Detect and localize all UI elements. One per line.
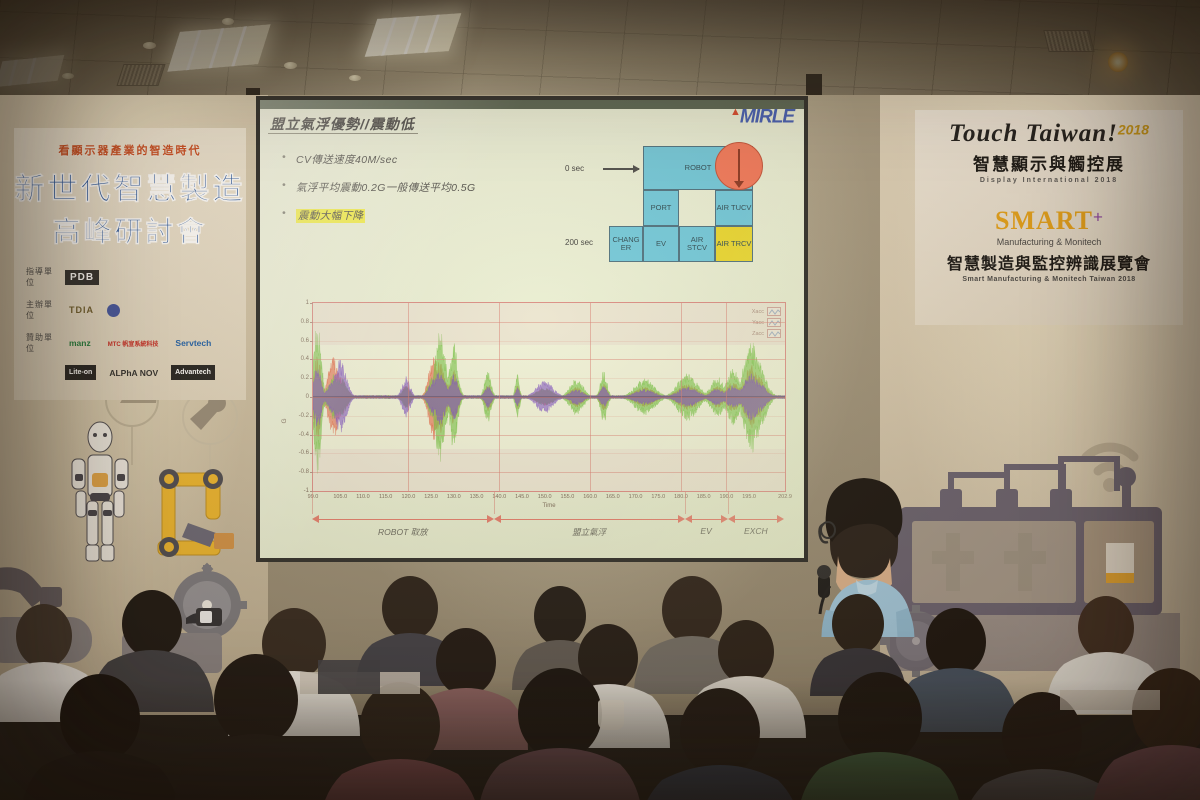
banner-left-title-line1: 新世代智慧製造 — [14, 164, 246, 208]
diagram-block-changer: CHANG ER — [609, 226, 643, 262]
chart-y-tick: -0.2 — [299, 413, 309, 419]
smart-subtitle: Manufacturing & Monitech — [915, 237, 1183, 247]
sponsor-row-label: 指導單位 — [26, 266, 56, 288]
chart-phase-segment: ROBOT 取放 — [312, 514, 494, 525]
chart-band — [313, 449, 785, 491]
chart-x-tick: 135.0 — [470, 494, 484, 500]
smart-title-row: SMART+ — [915, 206, 1183, 236]
sponsor-logo-liteon: Lite-on — [65, 365, 96, 380]
smart-name: SMART — [995, 206, 1093, 235]
chart-y-tick: -0.8 — [299, 469, 309, 475]
chart-gridline — [408, 303, 409, 491]
chart-gridline — [681, 303, 682, 491]
diagram-block-port: PORT — [643, 190, 679, 226]
sponsor-logo-tdia: TDIA — [65, 303, 98, 318]
foreground-shadow — [0, 680, 1200, 800]
sponsor-logo-servtech: Servtech — [171, 336, 215, 351]
slide-bullet: 氣浮平均震動0.2G一般傳送平均0.5G — [282, 180, 562, 195]
touch-taiwan-name: Touch Taiwan! — [949, 120, 1118, 147]
chart-x-tick: 99.0 — [308, 494, 319, 500]
diagram-start-arrow-icon — [603, 168, 639, 170]
mirle-logo: ▲MIRLE — [730, 106, 794, 128]
chart-x-tick: 160.0 — [583, 494, 597, 500]
sponsor-row: 贊助單位 manz MTC 帆宣系統科技 Servtech — [26, 332, 234, 354]
chart-phase-label: EV — [685, 526, 728, 536]
chart-x-tick: 190.0 — [720, 494, 734, 500]
chart-gridline — [313, 397, 785, 398]
chart-x-tick: 110.0 — [356, 494, 369, 500]
slide-bullet-text: 氣浮平均震動0.2G一般傳送平均0.5G — [296, 182, 476, 194]
screen-top-edge — [260, 100, 804, 109]
chart-x-tick: 202.9 — [778, 494, 792, 500]
slide-bullet: CV傳送速度40M/sec — [282, 152, 562, 167]
chart-y-tick: 0.8 — [301, 319, 309, 325]
diagram-block-air-trcv: AIR TRCV — [715, 226, 753, 262]
diagram-label-start: 0 sec — [565, 164, 584, 173]
banner-left-title-line2: 高峰研討會 — [14, 210, 246, 250]
chart-plot-area: Xacc Yacc Zacc — [312, 302, 786, 492]
slide-bullet-highlighted: 震動大幅下降 — [282, 208, 562, 223]
mirle-logo-text: MIRLE — [740, 106, 794, 127]
touch-taiwan-title-row: Touch Taiwan!2018 — [915, 120, 1183, 148]
smart-chinese: 智慧製造與監控辨識展覽會 — [915, 250, 1183, 274]
chart-gridline — [499, 303, 500, 491]
slide-bullet-list: CV傳送速度40M/sec 氣浮平均震動0.2G一般傳送平均0.5G 震動大幅下… — [282, 152, 562, 236]
chart-y-tick: 0.6 — [301, 338, 309, 344]
diagram-block-label: PORT — [651, 204, 672, 212]
down-arrow-icon — [738, 149, 740, 183]
chart-gridline — [313, 359, 785, 360]
chart-x-tick: 145.0 — [515, 494, 529, 500]
sponsor-row: Lite-on ALPhA NOV Advantech — [26, 365, 234, 380]
chart-phase-annotations: ROBOT 取放盟立氣浮EVEXCH — [312, 514, 786, 540]
diagram-block-label: AIR STCV — [680, 236, 714, 252]
chart-x-tick: 185.0 — [697, 494, 711, 500]
diagram-label-end: 200 sec — [565, 238, 593, 247]
chart-y-axis-label: G — [281, 418, 288, 423]
chart-gridline — [313, 322, 785, 323]
diagram-block-air-stcv: AIR STCV — [679, 226, 715, 262]
chart-x-tick: 165.0 — [606, 494, 620, 500]
process-diagram: 0 sec ROBOT PORT AIR TUCV 200 sec CHANG … — [605, 140, 795, 260]
slide-title: 盟立氣浮優勢//震動低 — [270, 114, 415, 134]
chart-x-tick: 115.0 — [379, 494, 392, 500]
slide-title-underline — [268, 133, 418, 134]
touch-taiwan-english: Display International 2018 — [915, 177, 1183, 184]
smart-english: Smart Manufacturing & Monitech Taiwan 20… — [915, 276, 1183, 283]
sponsor-row-label: 主辦單位 — [26, 299, 56, 321]
chart-x-tick: 175.0 — [651, 494, 665, 500]
sponsor-section: 指導單位 PDB 主辦單位 TDIA 贊助單位 manz MTC 帆宣系統科技 … — [14, 266, 246, 380]
chart-gridline — [313, 453, 785, 454]
sponsor-logo-mtc: MTC 帆宣系統科技 — [104, 336, 163, 351]
chart-phase-segment: EXCH — [728, 514, 784, 525]
banner-left-subtitle: 看顯示器產業的智造時代 — [14, 128, 246, 158]
diagram-block-label: AIR TRCV — [717, 240, 752, 248]
chart-x-tick: 105.0 — [333, 494, 347, 500]
chart-phase-segment: EV — [685, 514, 728, 525]
chart-gridline — [726, 303, 727, 491]
chart-x-tick: 125.0 — [424, 494, 438, 500]
chart-band — [313, 303, 785, 345]
conference-room-scene: 看顯示器產業的智造時代 新世代智慧製造 高峰研討會 指導單位 PDB 主辦單位 … — [0, 0, 1200, 800]
touch-taiwan-logo: Touch Taiwan!2018 智慧顯示與觸控展 Display Inter… — [915, 110, 1183, 184]
sponsor-logo-pdb: PDB — [65, 270, 99, 285]
sponsor-row-label: 贊助單位 — [26, 332, 56, 354]
diagram-block-label: ROBOT — [685, 164, 712, 172]
chart-y-tick: 0.2 — [301, 375, 309, 381]
sponsor-logo-alpha: ALPhA NOV — [105, 365, 162, 380]
smart-plus-icon: + — [1093, 208, 1103, 227]
sponsor-logo-advantech: Advantech — [171, 365, 215, 380]
sponsor-logo-badge-icon — [107, 304, 120, 317]
mirle-accent-icon: ▲ — [730, 106, 740, 118]
diagram-block-label: CHANG ER — [610, 236, 642, 252]
chart-phase-label: EXCH — [728, 526, 784, 536]
chart-phase-segment: 盟立氣浮 — [494, 514, 685, 525]
smart-logo: SMART+ Manufacturing & Monitech 智慧製造與監控辨… — [915, 206, 1183, 283]
diagram-block-ev: EV — [643, 226, 679, 262]
chart-gridline — [313, 378, 785, 379]
chart-x-tick: 195.0 — [742, 494, 756, 500]
chart-y-tick: 0 — [306, 394, 309, 400]
chart-gridline — [313, 341, 785, 342]
banner-left: 看顯示器產業的智造時代 新世代智慧製造 高峰研討會 指導單位 PDB 主辦單位 … — [14, 128, 246, 400]
chart-x-tick: 155.0 — [561, 494, 575, 500]
vibration-chart: G Xacc Yacc — [276, 296, 792, 546]
diagram-block-label: EV — [656, 240, 666, 248]
sponsor-logo-manz: manz — [65, 336, 95, 351]
chart-gridline — [313, 416, 785, 417]
touch-taiwan-year: 2018 — [1118, 122, 1149, 138]
chart-y-tick: 1 — [306, 300, 309, 306]
chart-x-tick: 180.0 — [674, 494, 688, 500]
projection-screen: 盟立氣浮優勢//震動低 ▲MIRLE CV傳送速度40M/sec 氣浮平均震動0… — [260, 100, 804, 558]
chart-x-tick: 170.0 — [629, 494, 643, 500]
chart-phase-label: ROBOT 取放 — [312, 526, 494, 538]
sponsor-row: 指導單位 PDB — [26, 266, 234, 288]
touch-taiwan-chinese: 智慧顯示與觸控展 — [915, 150, 1183, 175]
diagram-block-label: AIR TUCV — [717, 204, 752, 212]
chart-gridline — [590, 303, 591, 491]
chart-phase-label: 盟立氣浮 — [494, 526, 685, 538]
chart-y-tick: 0.4 — [301, 356, 309, 362]
chart-x-tick: 120.0 — [402, 494, 416, 500]
chart-x-tick: 150.0 — [538, 494, 552, 500]
sponsor-row: 主辦單位 TDIA — [26, 299, 234, 321]
chart-gridline — [313, 435, 785, 436]
slide-bullet-text: 震動大幅下降 — [296, 209, 365, 223]
banner-right: Touch Taiwan!2018 智慧顯示與觸控展 Display Inter… — [915, 110, 1183, 325]
chart-y-tick: -0.6 — [299, 450, 309, 456]
chart-y-tick: -0.4 — [299, 432, 309, 438]
diagram-load-indicator — [715, 142, 763, 190]
chart-x-axis-label: Time — [542, 503, 555, 509]
chart-gridline — [313, 472, 785, 473]
slide-bullet-text: CV傳送速度40M/sec — [296, 154, 397, 166]
chart-x-tick: 130.0 — [447, 494, 461, 500]
diagram-block-air-tucv: AIR TUCV — [715, 190, 753, 226]
